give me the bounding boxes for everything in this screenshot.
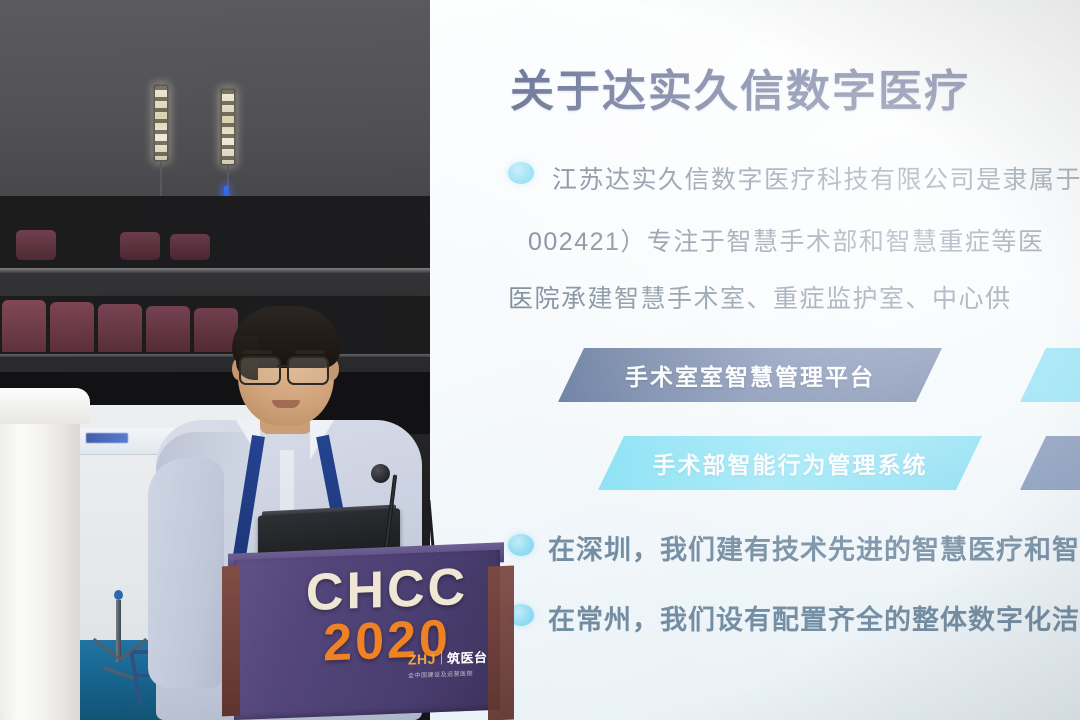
bullet-dot-icon — [508, 162, 534, 184]
seat-rail — [0, 268, 450, 273]
lens — [239, 356, 281, 385]
slide-paragraph-line: 医院承建智慧手术室、重症监护室、中心供 — [508, 279, 1012, 315]
chevron-banner-right-partial — [1020, 436, 1080, 490]
slide-bullet-line: 在深圳，我们建有技术先进的智慧医疗和智 — [548, 528, 1080, 567]
glasses-bridge — [277, 365, 289, 367]
exit-sign-icon — [155, 86, 167, 160]
microphone-icon — [371, 464, 390, 483]
slide-bullet-line: 在常州，我们设有配置齐全的整体数字化洁 — [548, 598, 1080, 637]
logo-divider — [441, 651, 442, 664]
slide-paragraph-line: 江苏达实久信数字医疗科技有限公司是隶属于 — [552, 160, 1080, 196]
screenshot-root: 关于达实久信数字医疗 江苏达实久信数字医疗科技有限公司是隶属于 002421）专… — [0, 0, 1080, 720]
lens — [287, 356, 329, 385]
hall-column — [0, 388, 80, 720]
exit-sign-icon — [222, 90, 234, 164]
speaker-left-arm — [148, 458, 224, 688]
seat-row — [0, 222, 470, 268]
chevron-banner-label: 手术部智能行为管理系统 — [653, 446, 928, 480]
podium-right-side — [488, 566, 514, 720]
eyebrow — [242, 350, 272, 354]
podium-left-edge — [222, 566, 240, 717]
slide-paragraph-line: 002421）专注于智慧手术部和智慧重症等医 — [528, 222, 1044, 258]
chevron-banner-right-partial — [1020, 348, 1080, 402]
zhj-logo-name: 筑医台 — [447, 647, 488, 667]
eyeglasses-icon — [238, 356, 334, 382]
projected-slide: 关于达实久信数字医疗 江苏达实久信数字医疗科技有限公司是隶属于 002421）专… — [430, 0, 1080, 720]
slide-title: 关于达实久信数字医疗 — [510, 55, 970, 119]
chevron-banner-platform: 手术室室智慧管理平台 — [558, 348, 942, 402]
bullet-dot-icon — [508, 534, 534, 556]
zhj-logo-mark: ZHJ — [408, 650, 436, 667]
chevron-banner-label: 手术室室智慧管理平台 — [625, 358, 875, 392]
mouth — [272, 400, 300, 408]
zhj-logo: ZHJ 筑医台 全中国建设及运营医院 — [408, 646, 500, 679]
chevron-banner-behavior-system: 手术部智能行为管理系统 — [598, 436, 982, 490]
booth-logo-icon — [86, 433, 128, 443]
auditorium-wall — [0, 0, 470, 205]
hall-column-capital — [0, 388, 90, 424]
eyebrow — [295, 350, 325, 354]
